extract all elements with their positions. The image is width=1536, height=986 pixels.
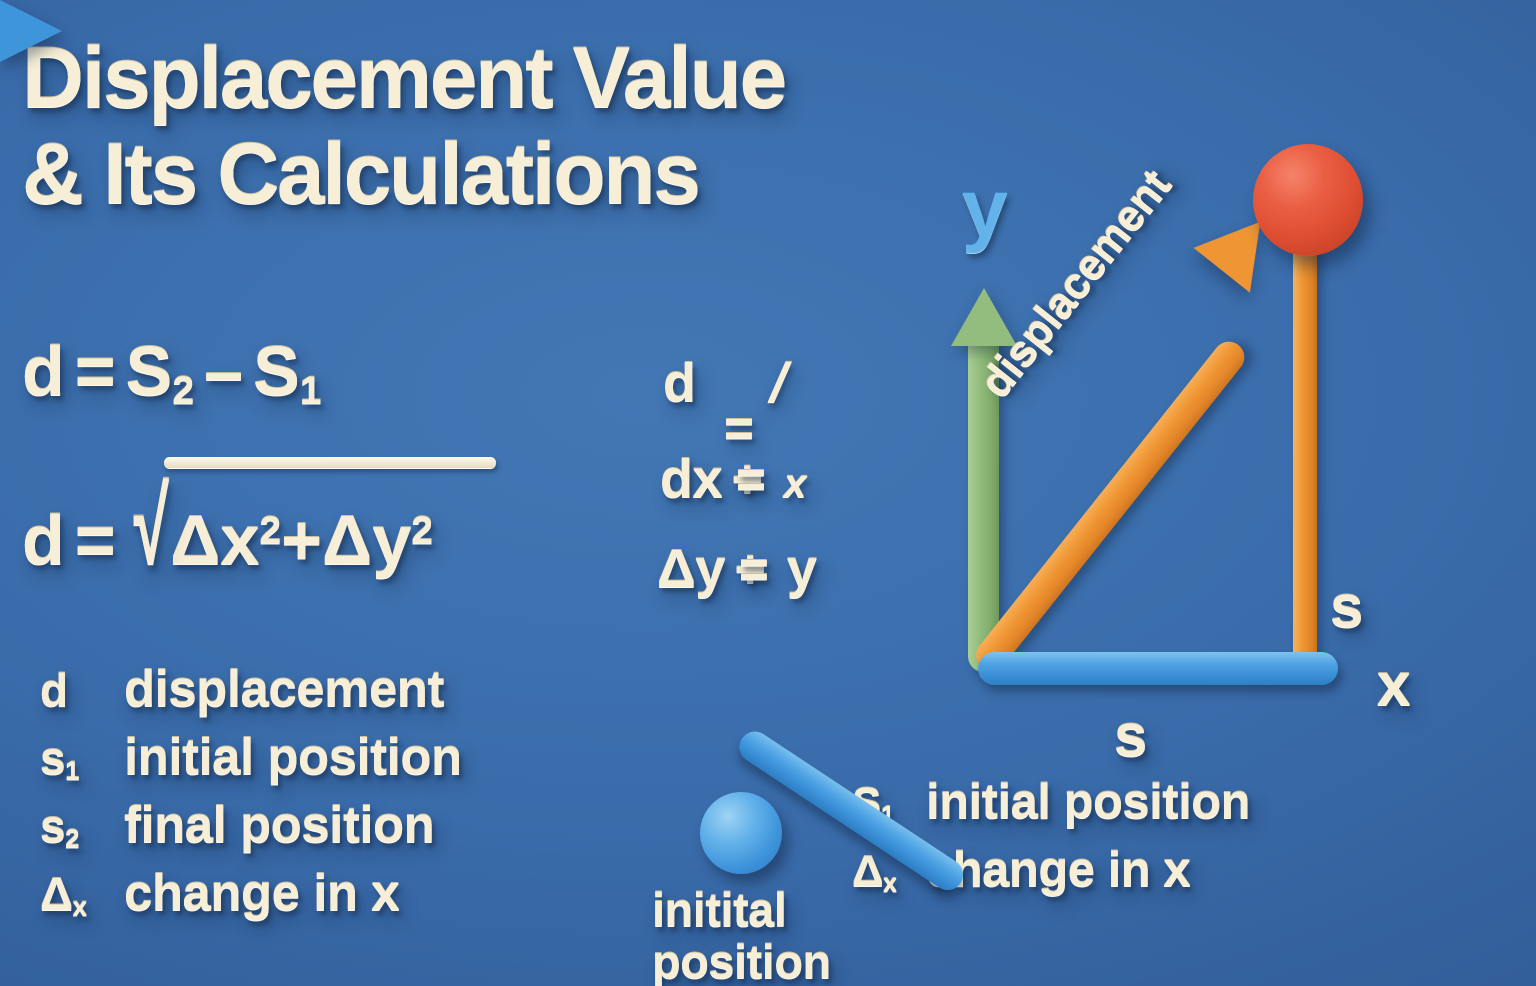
delta-y-drop-line: [1293, 232, 1317, 670]
initial-position-caption-line-1: initital: [652, 884, 862, 936]
initial-position-caption-line-2: position: [652, 936, 862, 986]
s-label-bottom: s: [1114, 706, 1147, 766]
vector-diagram: y displacement s x s initital position: [0, 0, 1536, 986]
x-axis-label: x: [1377, 655, 1410, 715]
infographic-canvas: Displacement Value & Its Calculations d=…: [0, 0, 1536, 986]
final-position-sphere: [1253, 144, 1363, 256]
initial-position-caption: initital position: [652, 884, 862, 986]
s-label-right: s: [1330, 577, 1363, 637]
initial-position-dot: [700, 792, 782, 874]
x-axis-arrowhead-icon: [0, 0, 62, 62]
x-axis-arrow-shaft: [978, 652, 1338, 685]
y-axis-label: y: [962, 168, 1007, 250]
